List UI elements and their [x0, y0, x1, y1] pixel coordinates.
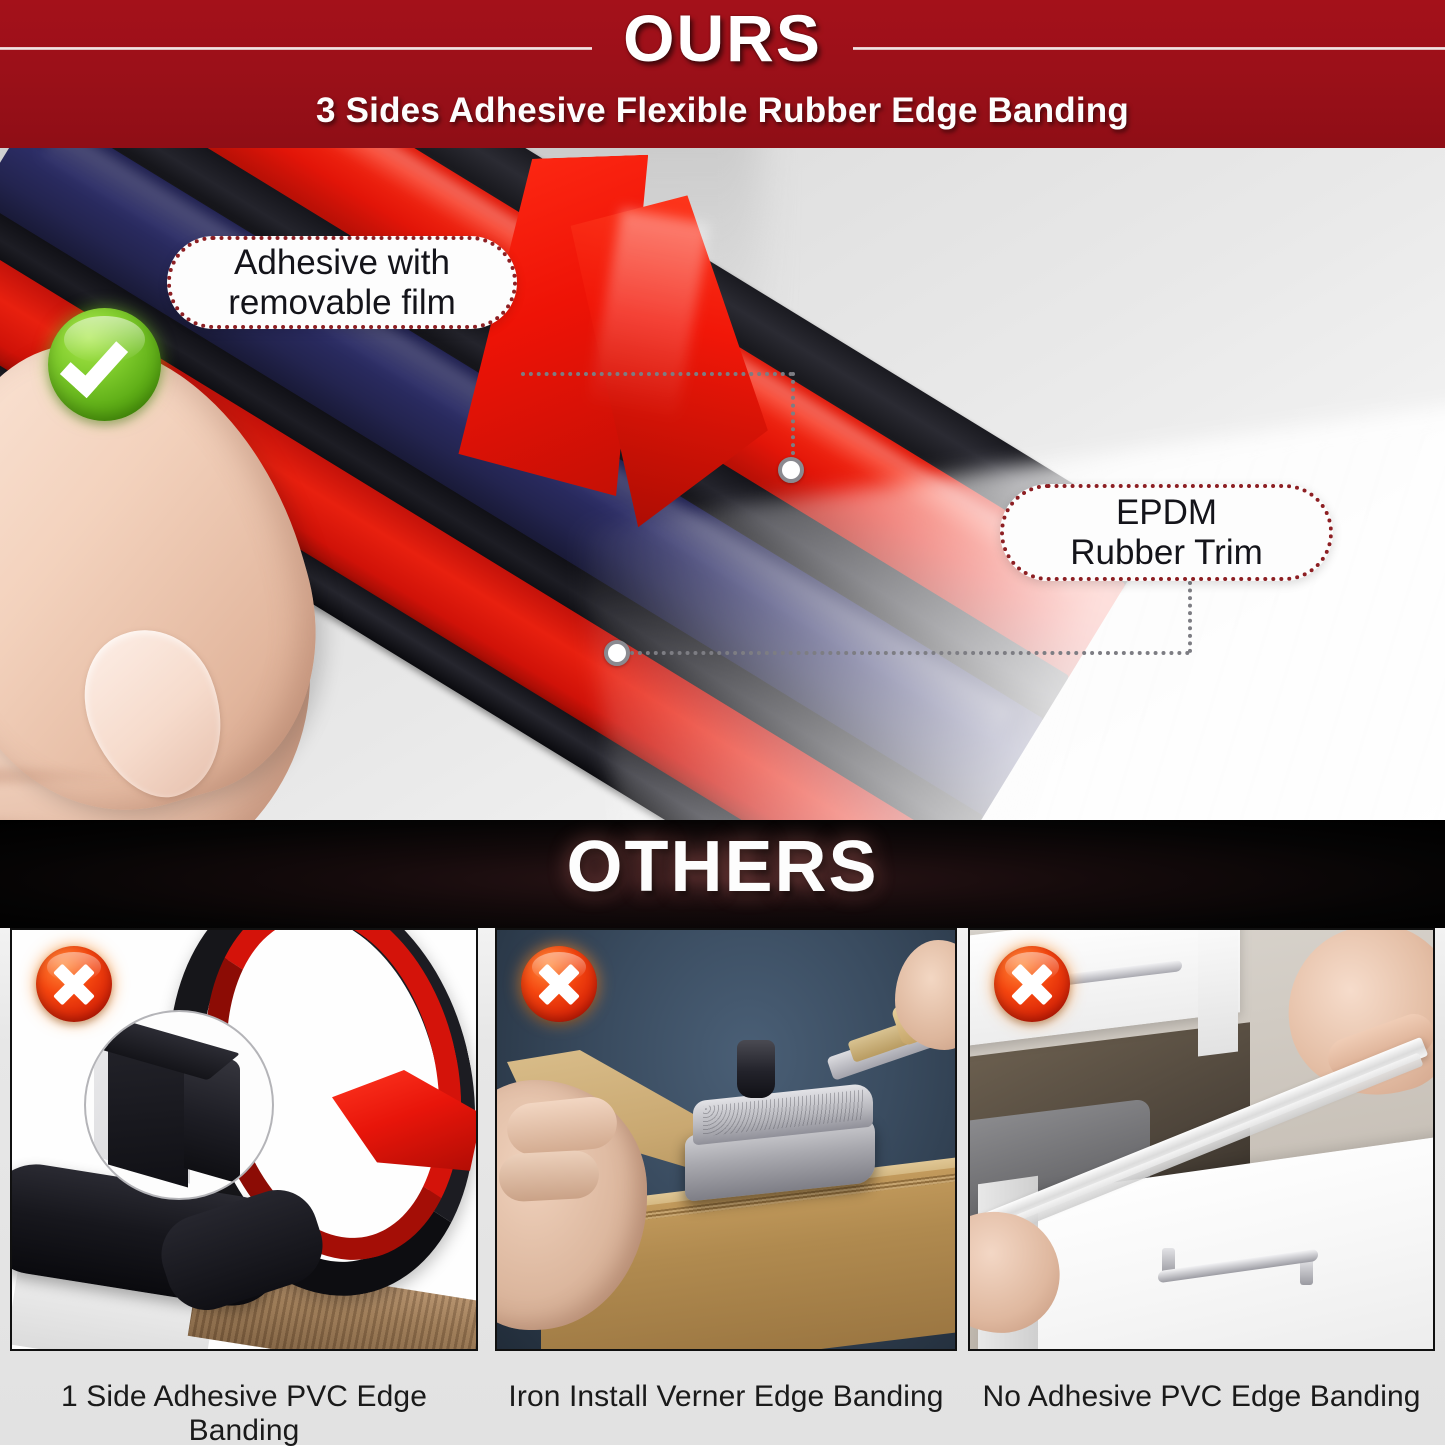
check-mark-glyph: [60, 328, 128, 398]
ours-header-banner: OURS 3 Sides Adhesive Flexible Rubber Ed…: [0, 0, 1445, 148]
leader-node-epdm: [604, 640, 630, 666]
comparison-panels: 1 Side Adhesive PVC Edge Banding Iron In…: [0, 928, 1445, 1445]
panel2-finger-2: [498, 1149, 600, 1202]
check-circle-icon: [48, 308, 161, 421]
comparison-panel-3-caption: No Adhesive PVC Edge Banding: [968, 1380, 1435, 1414]
x-circle-icon: [36, 946, 112, 1022]
panel1-profile-inset-circle: [84, 1010, 274, 1200]
panel3-cabinet-side: [1198, 928, 1238, 1056]
leader-line-epdm-vertical: [1188, 581, 1192, 653]
ours-title: OURS: [0, 3, 1445, 74]
leader-line-adhesive-vertical: [791, 372, 795, 463]
leader-node-adhesive: [778, 457, 804, 483]
ours-subtitle: 3 Sides Adhesive Flexible Rubber Edge Ba…: [0, 91, 1445, 131]
comparison-panel-2-caption: Iron Install Verner Edge Banding: [495, 1380, 957, 1414]
panel2-iron-knob: [737, 1040, 775, 1098]
callout-adhesive-label: Adhesive with removable film: [228, 243, 456, 323]
callout-epdm-rubber-trim: EPDM Rubber Trim: [1000, 484, 1333, 581]
peeling-liner-tab: [448, 151, 781, 552]
callout-epdm-label: EPDM Rubber Trim: [1070, 493, 1263, 573]
comparison-panel-1-image: [10, 928, 478, 1351]
comparison-panel-3-image: [968, 928, 1435, 1351]
comparison-panel-2-image: [495, 928, 957, 1351]
others-header-banner: OTHERS: [0, 820, 1445, 928]
x-circle-icon: [521, 946, 597, 1022]
leader-line-epdm-horizontal: [630, 651, 1190, 655]
leader-line-adhesive-horizontal: [521, 372, 793, 376]
x-circle-icon: [994, 946, 1070, 1022]
callout-adhesive-removable-film: Adhesive with removable film: [167, 236, 517, 329]
others-title: OTHERS: [0, 826, 1445, 908]
comparison-panel-1-caption: 1 Side Adhesive PVC Edge Banding: [10, 1380, 478, 1448]
